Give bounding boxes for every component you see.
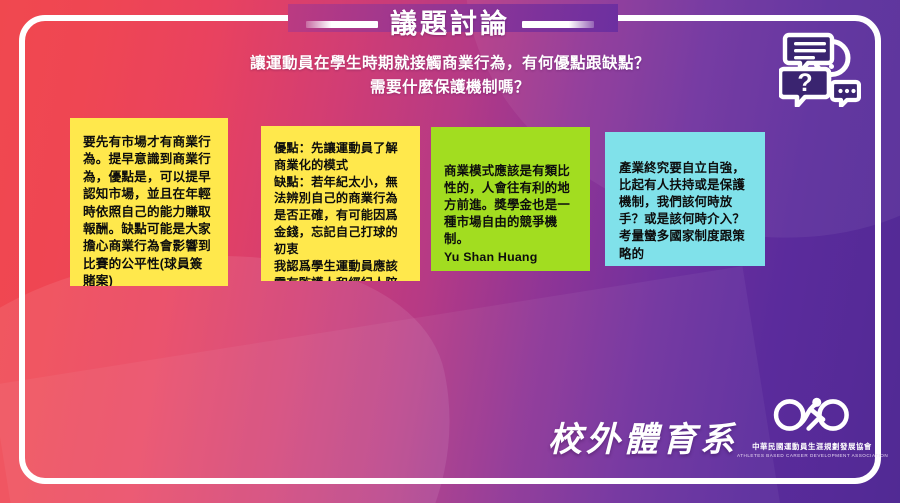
footer-brand-title: 校外體育系 [548, 423, 738, 457]
sticky-note-text: 產業終究要自立自強，比起有人扶持或是保護機制，我們該何時放手？或是該何時介入？考… [619, 160, 753, 263]
subtitle-line-2: 需要什麼保護機制嗎？ [150, 76, 750, 100]
organization-name-en: Athletes Based Career Development Associ… [737, 453, 887, 458]
background-swoosh-bottom [0, 266, 808, 503]
slide-title-row: 議題討論 [0, 4, 900, 44]
infinity-athlete-logo-icon [767, 396, 857, 434]
discussion-bubbles-icon: ? [779, 29, 861, 107]
presentation-slide: 議題討論 讓運動員在學生時期就接觸商業行為，有何優點跟缺點？ 需要什麼保護機制嗎… [0, 0, 900, 503]
subtitle-line-1: 讓運動員在學生時期就接觸商業行為，有何優點跟缺點？ [150, 52, 750, 76]
sticky-note-author: Yu Shan Huang [444, 250, 537, 264]
decorative-rule-right-icon [522, 21, 594, 28]
organization-name-zh: 中華民國運動員生涯規劃發展協會 [737, 441, 887, 452]
decorative-rule-left-icon [306, 21, 378, 28]
sticky-note[interactable]: 要先有市場才有商業行為。提早意識到商業行為，優點是，可以提早認知市場，並且在年輕… [70, 118, 228, 286]
svg-text:?: ? [797, 69, 812, 97]
dots-bubble-icon [832, 82, 859, 106]
organization-logo: 中華民國運動員生涯規劃發展協會 Athletes Based Career De… [737, 396, 887, 466]
question-bubble-icon: ? [780, 69, 829, 106]
sticky-note[interactable]: 優點：先讓運動員了解商業化的模式 缺點：若年紀太小，無法辨別自己的商業行為是否正… [261, 126, 420, 281]
sticky-note-text: 要先有市場才有商業行為。提早意識到商業行為，優點是，可以提早認知市場，並且在年輕… [83, 134, 215, 286]
sticky-note[interactable]: 產業終究要自立自強，比起有人扶持或是保護機制，我們該何時放手？或是該何時介入？考… [605, 132, 765, 266]
sticky-note[interactable]: 商業模式應該是有類比性的，人會往有利的地方前進。獎學金也是一種市場自由的競爭機制… [431, 127, 590, 271]
slide-subtitle: 讓運動員在學生時期就接觸商業行為，有何優點跟缺點？ 需要什麼保護機制嗎？ [150, 52, 750, 100]
sticky-note-text: 商業模式應該是有類比性的，人會往有利的地方前進。獎學金也是一種市場自由的競爭機制… [444, 163, 578, 249]
chat-bubble-lines-icon [785, 35, 832, 72]
page-title: 議題討論 [390, 11, 510, 38]
sticky-note-text: 優點：先讓運動員了解商業化的模式 缺點：若年紀太小，無法辨別自己的商業行為是否正… [274, 140, 408, 281]
